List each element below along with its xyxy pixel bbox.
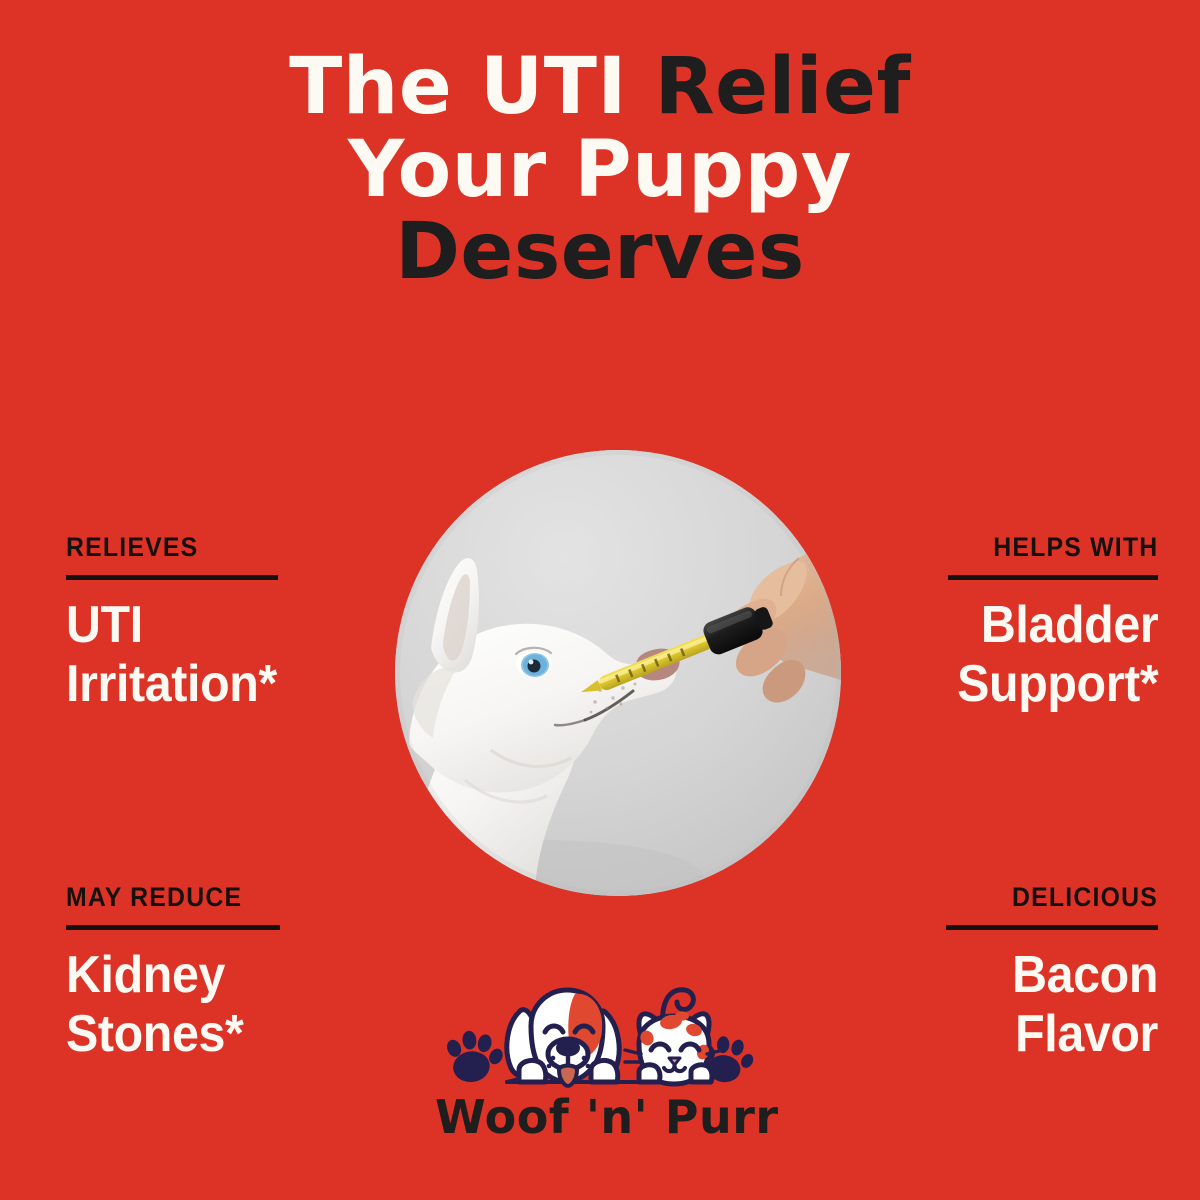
headline-line-1-dark: Relief [655,42,911,132]
feature-title-line-2: Flavor [961,1005,1158,1064]
dog-icon [507,990,619,1086]
feature-title-may-reduce: Kidney Stones* [66,946,265,1065]
photo-illustration [395,450,841,896]
feature-title-line-1: UTI [66,596,277,655]
dog-with-dropper-photo [395,450,841,896]
feature-relieves: RELIEVES UTI Irritation* [66,532,293,715]
feature-title-line-1: Bacon [961,946,1158,1005]
feature-title-delicious: Bacon Flavor [961,946,1158,1065]
feature-title-helps-with: Bladder Support* [957,596,1158,715]
feature-label-may-reduce: MAY REDUCE [66,882,263,913]
dog-and-cat-logo-icon [435,978,765,1096]
feature-title-line-2: Support* [957,655,1158,714]
feature-divider [66,925,280,930]
feature-delicious: DELICIOUS Bacon Flavor [946,882,1158,1065]
headline-line-2: Your Puppy [0,129,1200,212]
feature-divider [946,925,1158,930]
feature-label-delicious: DELICIOUS [963,882,1158,913]
brand-logo: Woof 'n' Purr [435,978,765,1144]
paw-print-left [445,1030,506,1084]
headline-line-3: Deserves [0,211,1200,294]
logo-wordmark: Woof 'n' Purr [435,1090,765,1144]
feature-divider [66,575,278,580]
headline-line-1-white: The UTI [289,42,655,132]
feature-title-line-1: Bladder [957,596,1158,655]
feature-may-reduce: MAY REDUCE Kidney Stones* [66,882,280,1065]
headline-line-1: The UTI Relief [0,46,1200,129]
feature-title-relieves: UTI Irritation* [66,596,277,715]
feature-divider [948,575,1158,580]
cat-icon [625,990,723,1084]
feature-title-line-2: Irritation* [66,655,277,714]
promo-poster: The UTI Relief Your Puppy Deserves RELIE… [0,0,1200,1200]
feature-label-relieves: RELIEVES [66,532,275,563]
feature-label-helps-with: HELPS WITH [959,532,1158,563]
feature-helps-with: HELPS WITH Bladder Support* [942,532,1158,715]
feature-title-line-1: Kidney [66,946,265,1005]
page-title: The UTI Relief Your Puppy Deserves [0,46,1200,294]
feature-title-line-2: Stones* [66,1005,265,1064]
